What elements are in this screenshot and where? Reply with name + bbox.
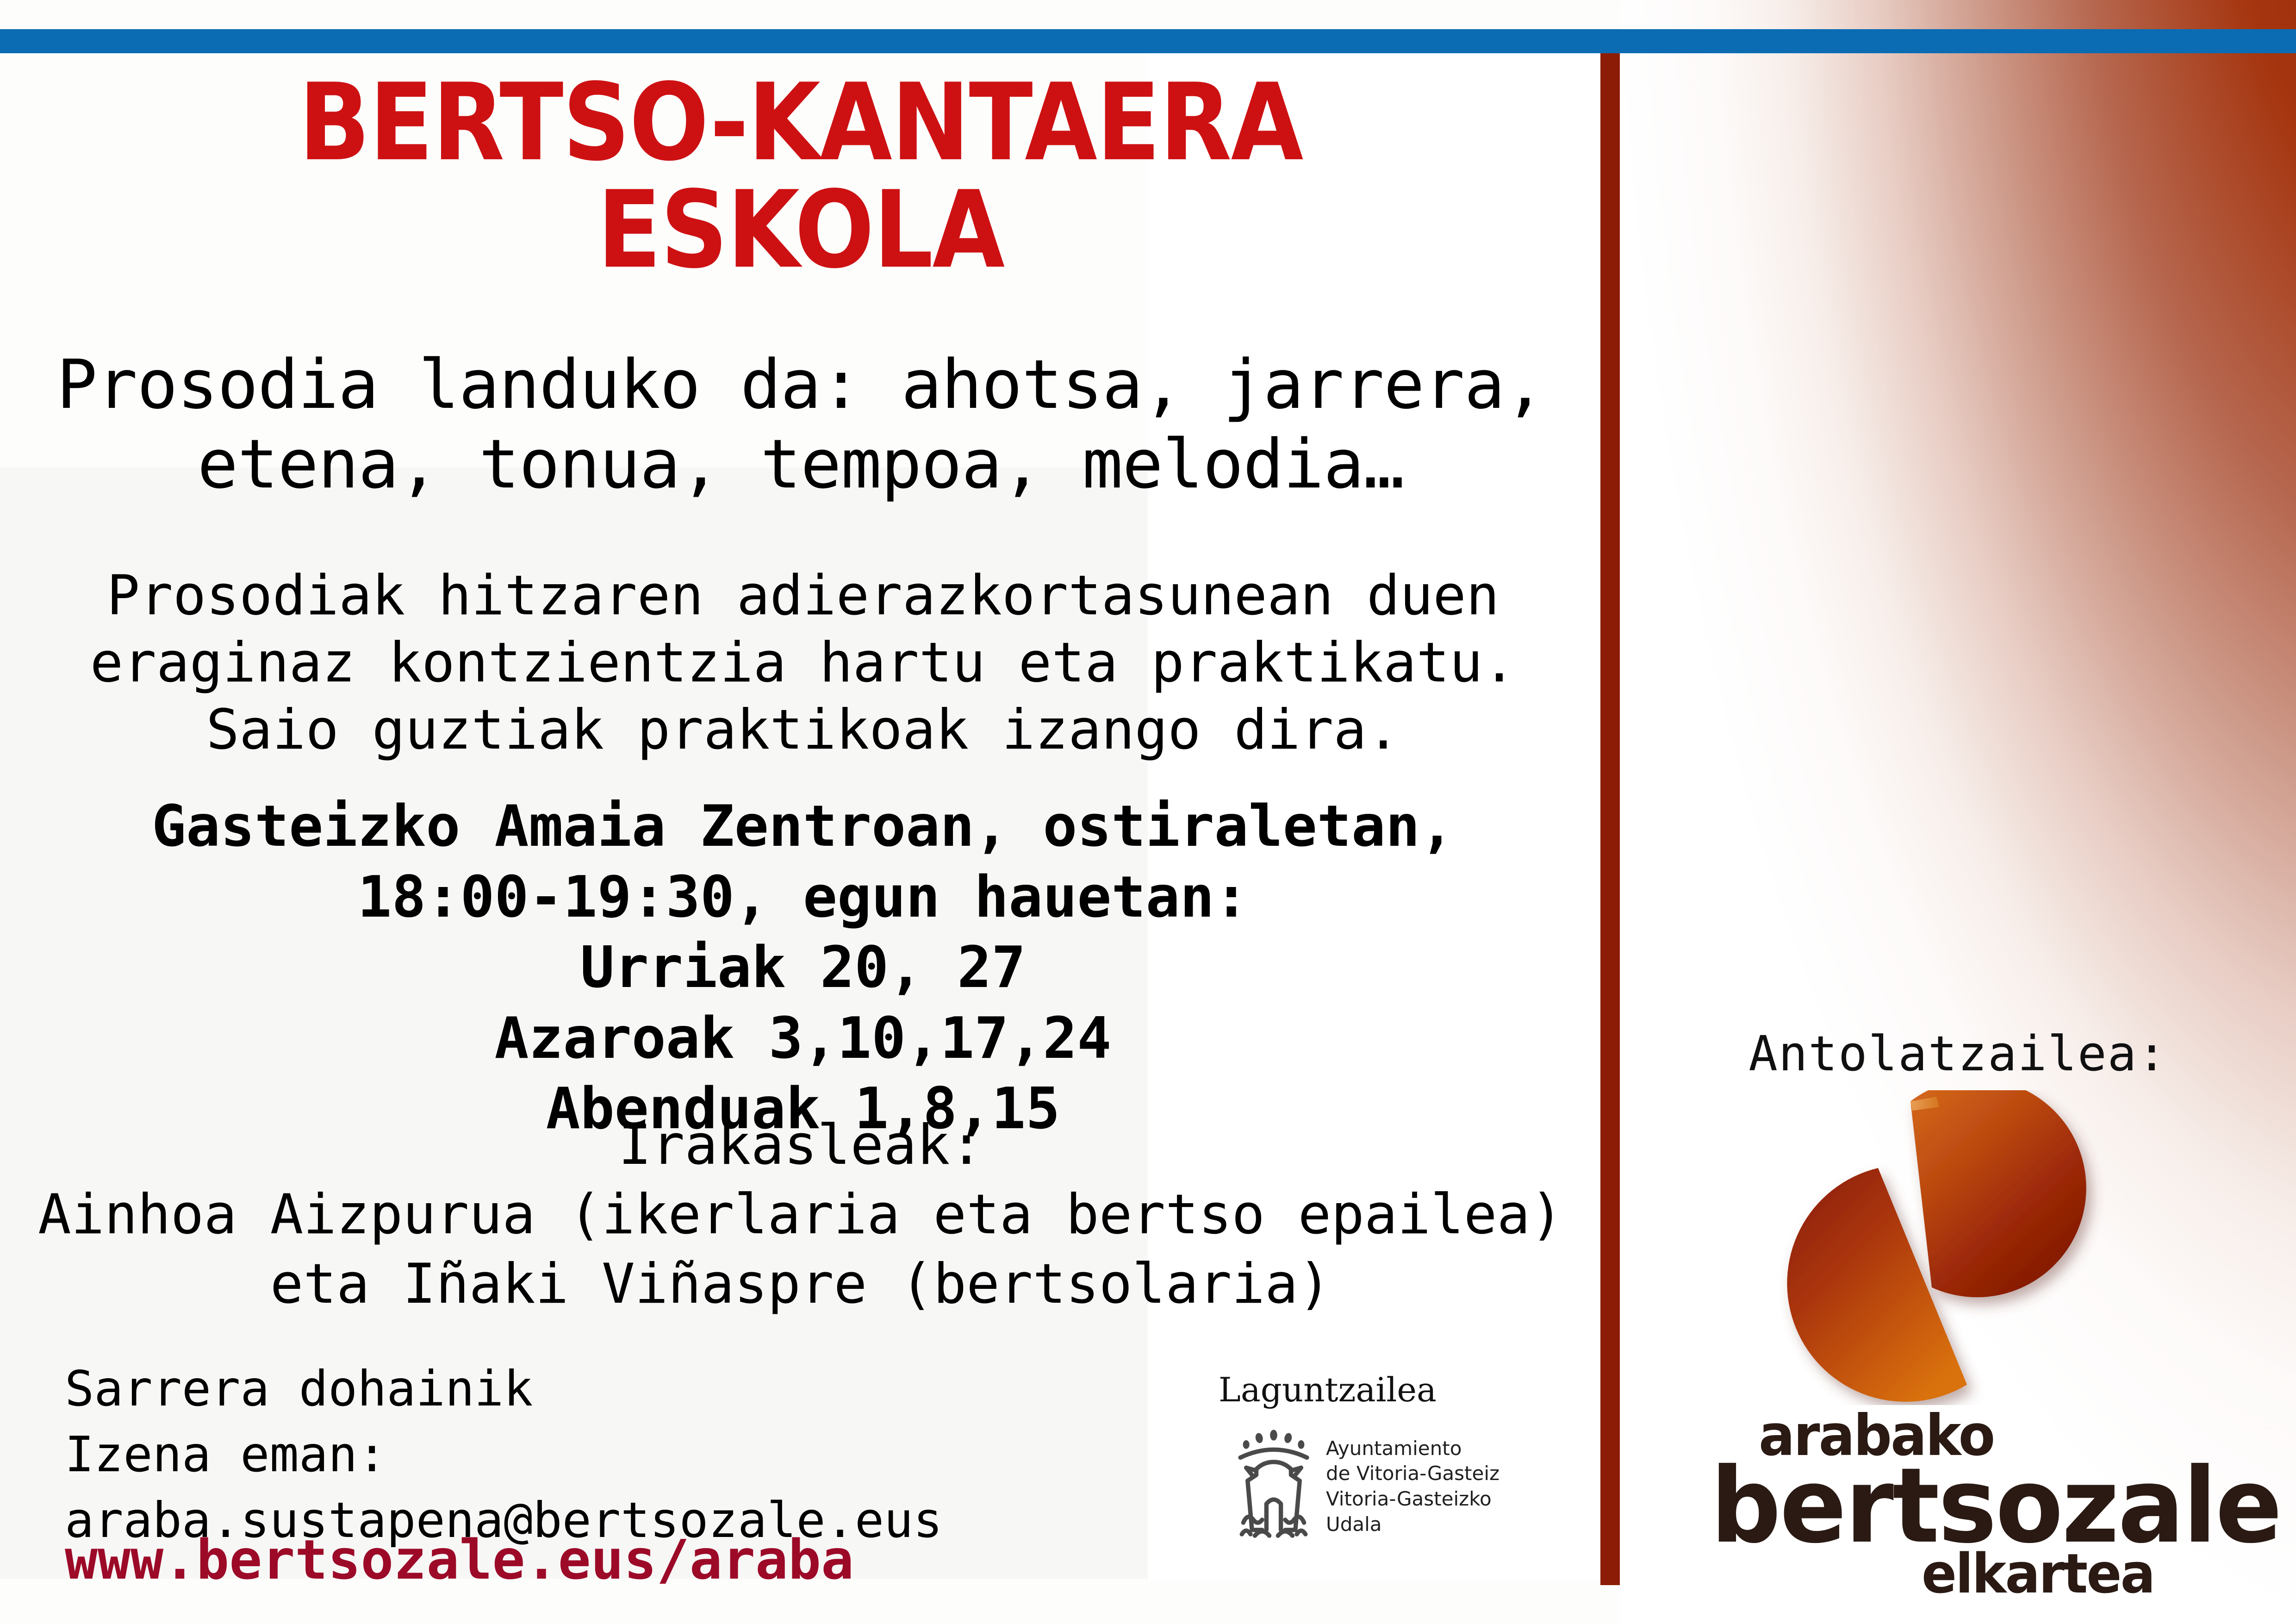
right-panel-top-band: [1620, 0, 2296, 29]
teachers-block: Irakasleak: Ainhoa Aizpurua (ikerlaria e…: [9, 1111, 1592, 1319]
bertsozale-split-disc-logo-icon: [1740, 1090, 2120, 1405]
sponsor-logo-text: Ayuntamiento de Vitoria-Gasteiz Vitoria-…: [1326, 1436, 1500, 1537]
vertical-divider: [1600, 53, 1620, 1585]
bertsozale-wordmark: arabako bertsozale elkartea: [1620, 1403, 2296, 1542]
top-blue-bar: [0, 29, 2296, 53]
website-url[interactable]: www.bertsozale.eus/araba: [65, 1528, 854, 1592]
sponsor-label: Laguntzailea: [1219, 1370, 1520, 1409]
lead-paragraph: Prosodia landuko da: ahotsa, jarrera, et…: [9, 345, 1592, 505]
vitoria-gasteiz-crest-icon: [1230, 1429, 1318, 1544]
contact-block: Sarrera dohainik Izena eman: araba.susta…: [65, 1356, 1176, 1553]
page-title: BERTSO-KANTAERA ESKOLA: [96, 69, 1506, 285]
sponsor-block: Laguntzailea: [1215, 1370, 1520, 1558]
schedule-block: Gasteizko Amaia Zentroan, ostiraletan, 1…: [19, 792, 1587, 1145]
poster-canvas: BERTSO-KANTAERA ESKOLA Prosodia landuko …: [0, 0, 2296, 1624]
wordmark-line-elkartea: elkartea: [1922, 1542, 2154, 1605]
organizer-label: Antolatzailea:: [1620, 1025, 2296, 1082]
sponsor-logo-box: Ayuntamiento de Vitoria-Gasteiz Vitoria-…: [1215, 1415, 1511, 1558]
description-paragraph: Prosodiak hitzaren adierazkortasunean du…: [19, 562, 1587, 764]
